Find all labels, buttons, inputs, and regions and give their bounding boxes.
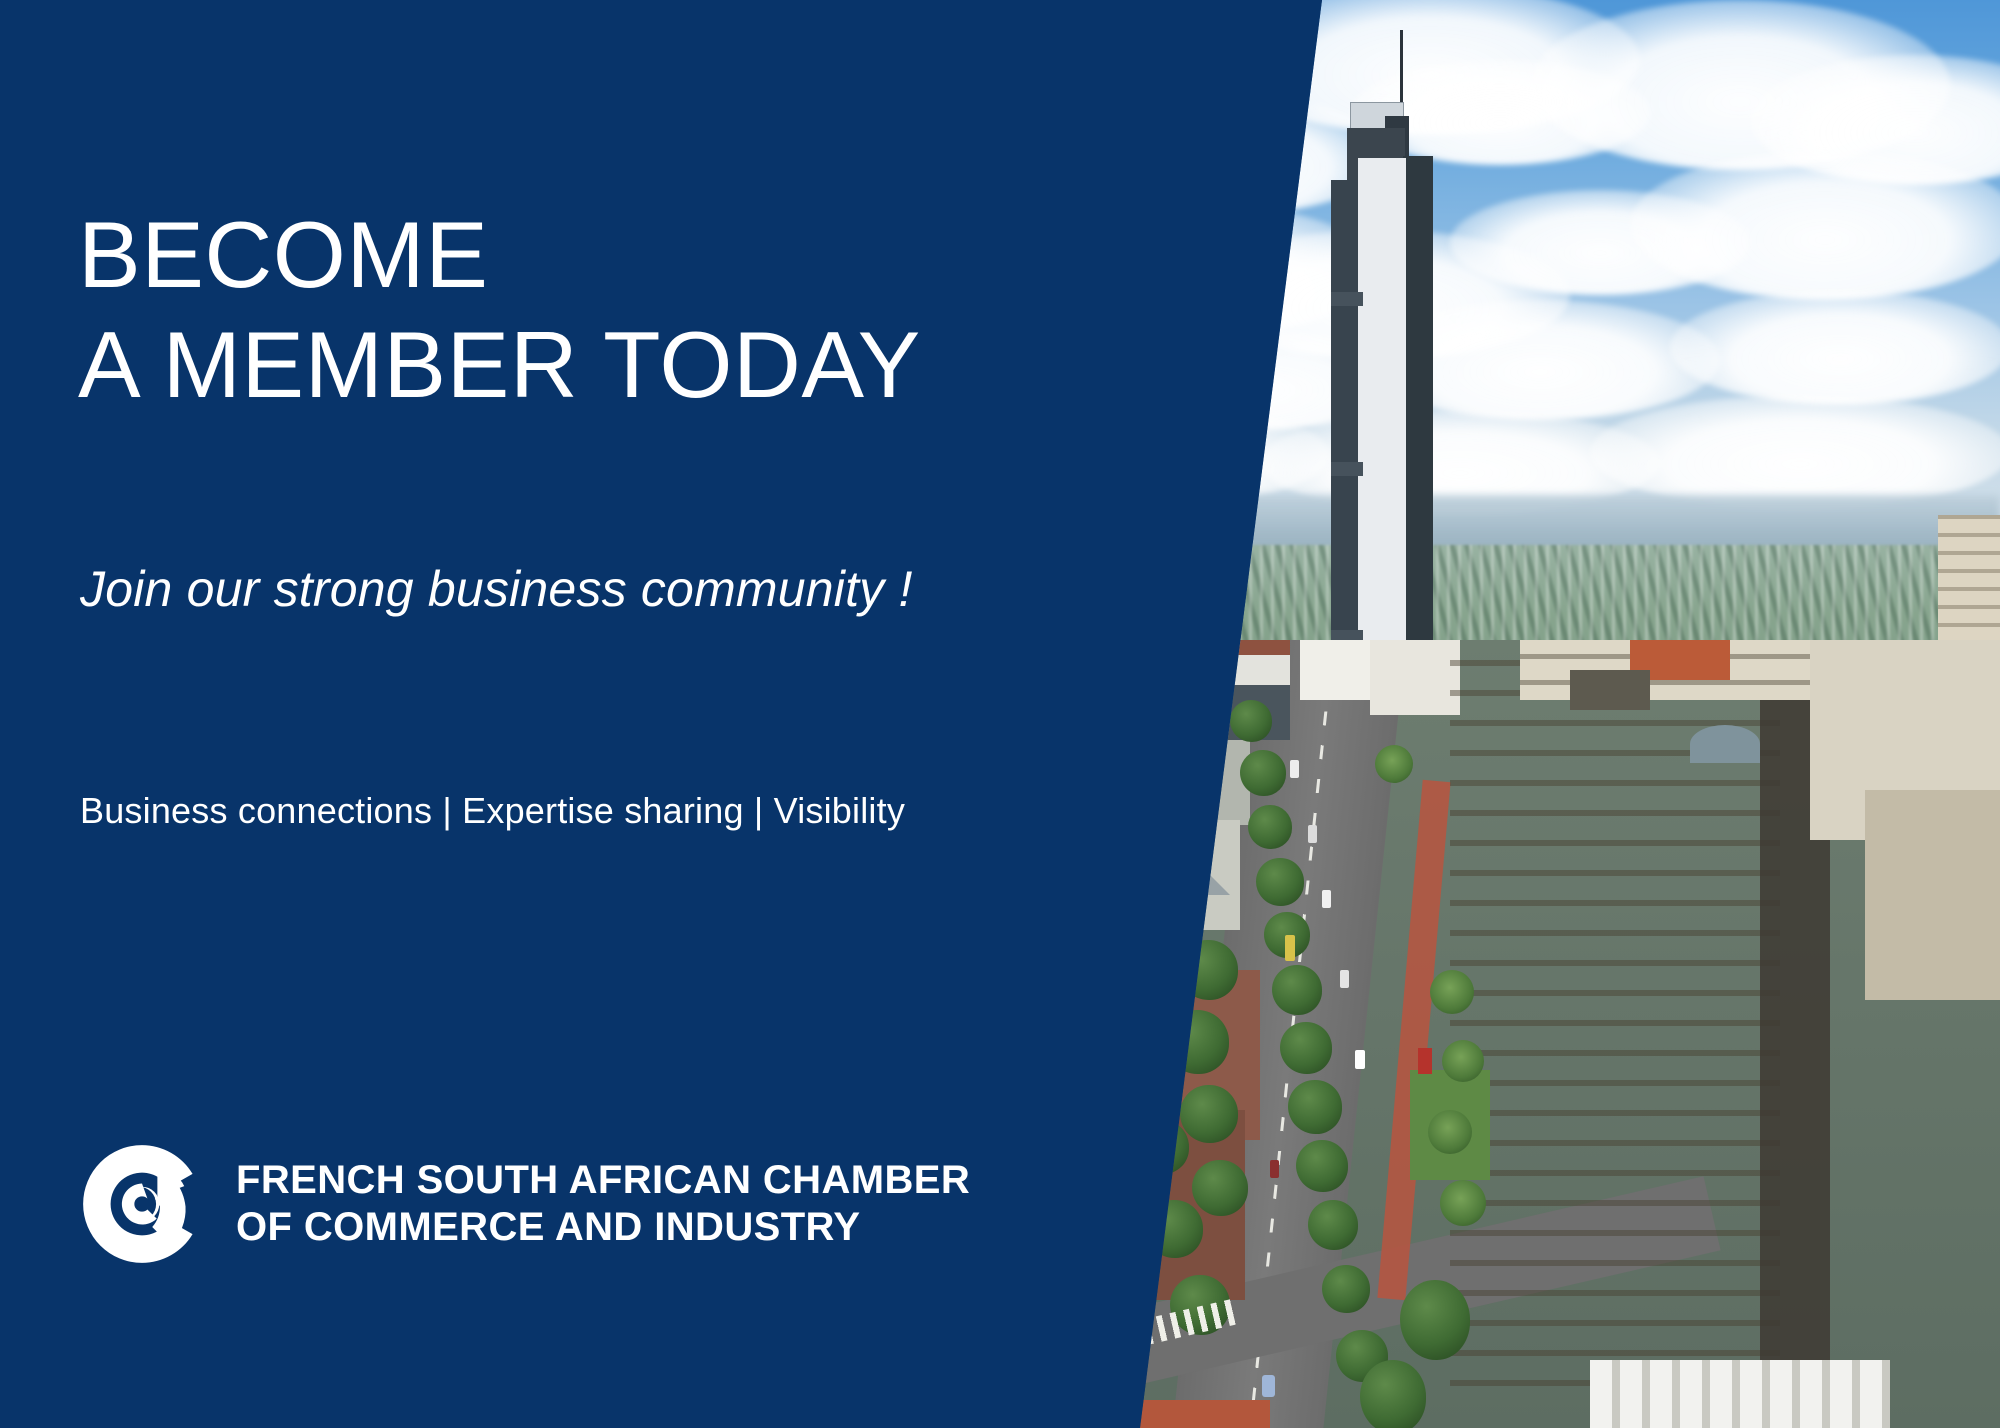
avenue-tree: [1288, 1080, 1342, 1134]
palm-tree: [1430, 970, 1474, 1014]
palm-tree: [1440, 1180, 1486, 1226]
sidewalk-tree: [1180, 1085, 1238, 1143]
subtitle-tagline: Join our strong business community !: [80, 560, 913, 618]
avenue-tree: [1296, 1140, 1348, 1192]
avenue-tree: [1322, 1265, 1370, 1313]
avenue-tree: [1240, 750, 1286, 796]
car: [1355, 1050, 1365, 1069]
street-tree: [1400, 1280, 1470, 1360]
palm-tree: [1442, 1040, 1484, 1082]
rooftop-plant: [1570, 670, 1650, 710]
ccifsa-logo-icon: [78, 1140, 206, 1268]
car: [1262, 1375, 1275, 1397]
red-marker: [1418, 1048, 1432, 1074]
car: [1340, 970, 1349, 988]
rooftop-dome: [1690, 725, 1760, 763]
avenue-tree: [1230, 700, 1272, 742]
palm-tree: [1375, 745, 1413, 783]
car: [1322, 890, 1331, 908]
blue-content-panel: BECOME A MEMBER TODAY Join our strong bu…: [0, 0, 1340, 1428]
benefits-list: Business connections | Expertise sharing…: [80, 790, 905, 832]
cloud-shape: [1670, 290, 2000, 405]
avenue-tree: [1272, 965, 1322, 1015]
office-building: [1370, 640, 1460, 715]
avenue-tree: [1280, 1022, 1332, 1074]
car: [1308, 825, 1317, 843]
avenue-tree: [1308, 1200, 1358, 1250]
tower-setback: [1331, 462, 1363, 476]
car: [1270, 1160, 1279, 1178]
avenue-tree: [1256, 858, 1304, 906]
avenue-tree: [1248, 805, 1292, 849]
membership-promo-banner: BOWMANS: [0, 0, 2000, 1428]
tower-setback: [1331, 292, 1363, 306]
bus: [1285, 935, 1295, 961]
cloud-shape: [1590, 395, 2000, 510]
street-tree: [1360, 1360, 1426, 1428]
car: [1290, 760, 1299, 778]
logo-wordmark: FRENCH SOUTH AFRICAN CHAMBER OF COMMERCE…: [236, 1157, 970, 1251]
red-cycle-lane: [1377, 780, 1450, 1300]
palm-tree: [1428, 1110, 1472, 1154]
sidewalk-tree: [1192, 1160, 1248, 1216]
cafe-umbrellas: [1590, 1360, 1890, 1428]
cloud-shape: [1630, 150, 2000, 300]
page-title: BECOME A MEMBER TODAY: [78, 200, 921, 420]
right-far-building: [1865, 790, 2000, 1000]
logo-lockup: FRENCH SOUTH AFRICAN CHAMBER OF COMMERCE…: [78, 1140, 970, 1268]
